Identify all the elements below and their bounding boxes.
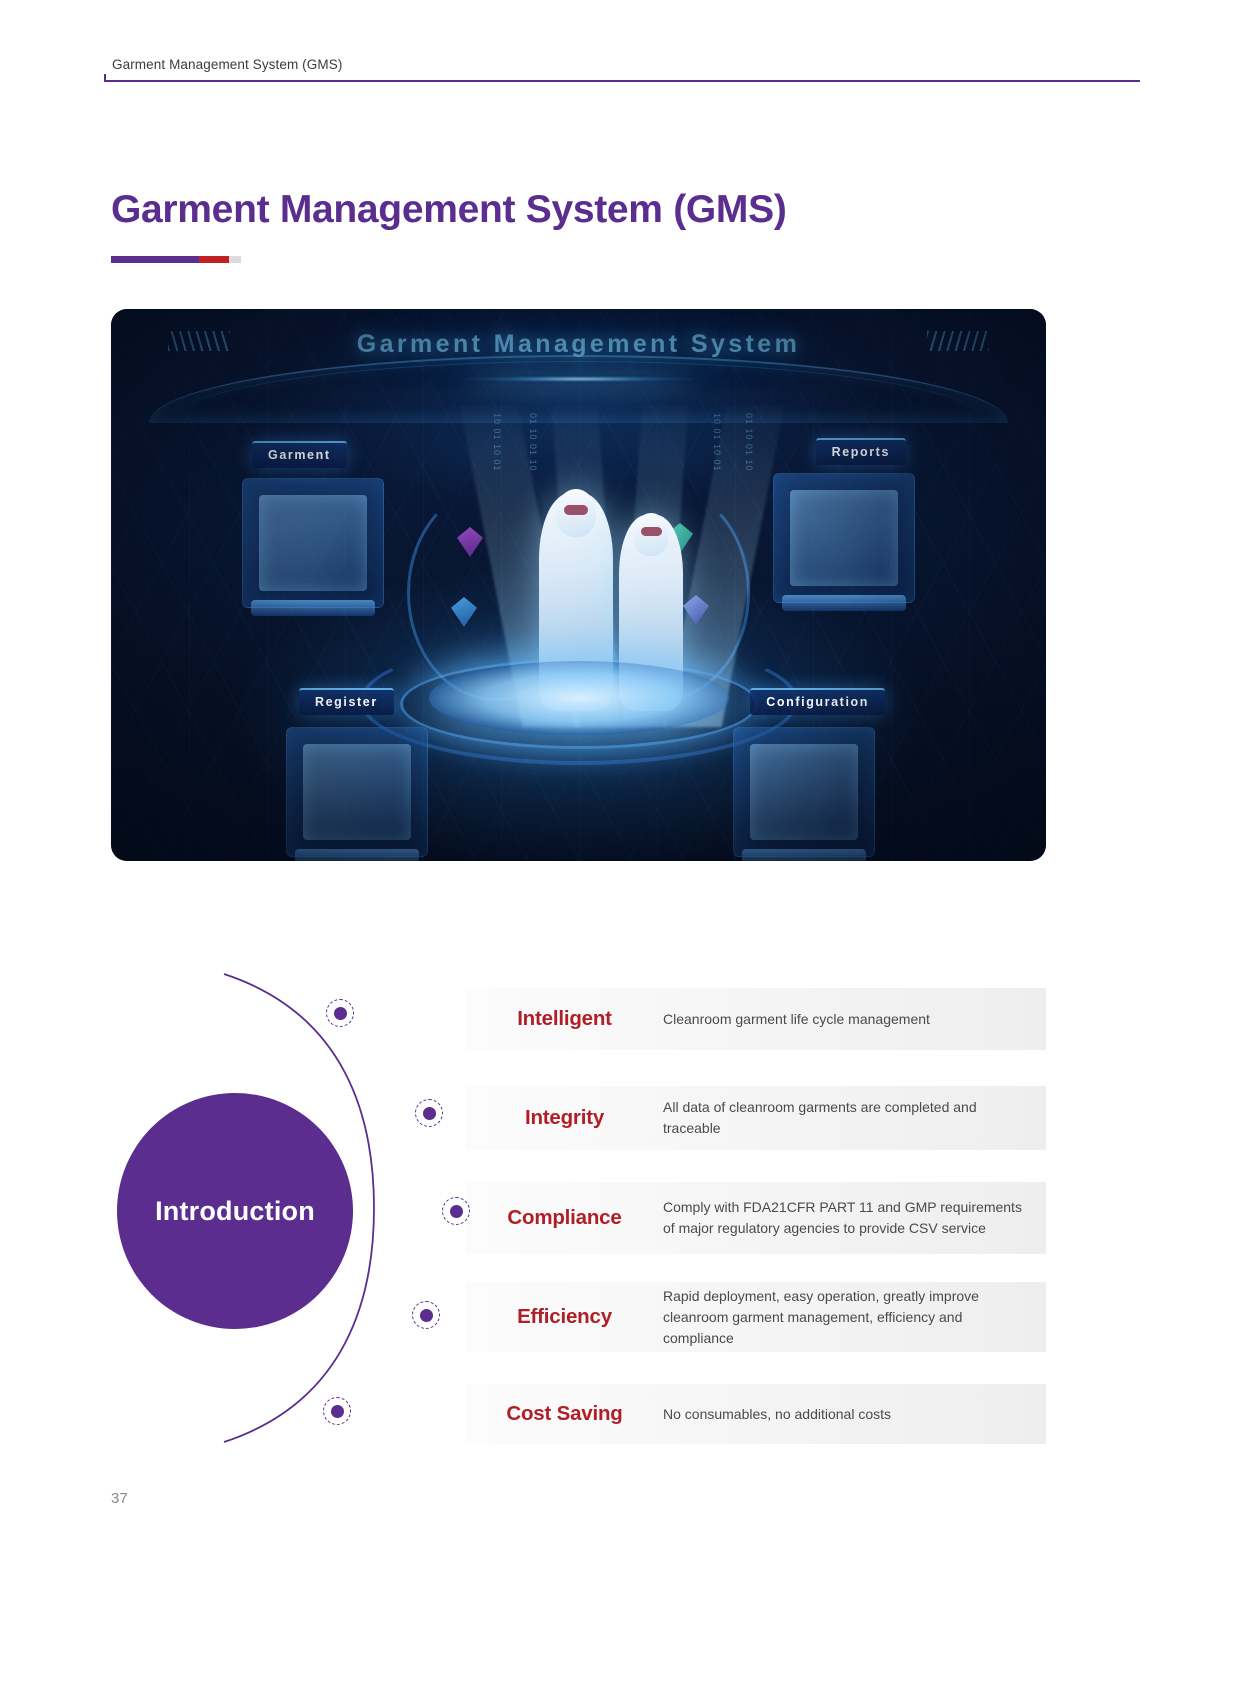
node-dot [450,1205,463,1218]
introduction-row-keyword: Efficiency [466,1305,663,1329]
introduction-row: IntelligentCleanroom garment life cycle … [466,988,1046,1050]
introduction-row: Cost SavingNo consumables, no additional… [466,1384,1046,1444]
introduction-row: EfficiencyRapid deployment, easy operati… [466,1282,1046,1352]
page-title: Garment Management System (GMS) [111,188,787,232]
introduction-row-keyword: Compliance [466,1206,663,1230]
introduction-row-keyword: Intelligent [466,1007,663,1031]
introduction-row: ComplianceComply with FDA21CFR PART 11 a… [466,1182,1046,1254]
title-accent-bar [111,256,241,263]
node-dot [331,1405,344,1418]
introduction-row-keyword: Integrity [466,1106,663,1130]
introduction-row-description: Comply with FDA21CFR PART 11 and GMP req… [663,1197,1046,1239]
header-rule [104,80,1140,82]
introduction-node-marker [413,1302,439,1328]
introduction-row-description: All data of cleanroom garments are compl… [663,1097,1046,1139]
accent-segment-purple [111,256,199,263]
introduction-row: IntegrityAll data of cleanroom garments … [466,1086,1046,1150]
introduction-row-description: Cleanroom garment life cycle management [663,1009,1046,1030]
page-number: 37 [111,1490,128,1507]
introduction-node-marker [416,1100,442,1126]
hero-vignette [111,309,1046,861]
introduction-node-marker [324,1398,350,1424]
running-header-title: Garment Management System (GMS) [112,57,342,72]
accent-segment-gray [229,256,241,263]
node-dot [423,1107,436,1120]
introduction-node-marker [443,1198,469,1224]
running-header: Garment Management System (GMS) [0,0,1240,80]
introduction-row-description: No consumables, no additional costs [663,1404,1046,1425]
node-dot [420,1309,433,1322]
accent-segment-red [199,256,229,263]
introduction-node-marker [327,1000,353,1026]
introduction-row-description: Rapid deployment, easy operation, greatl… [663,1286,1046,1349]
hero-illustration: Garment Management System 10 01 10 01 01… [111,309,1046,861]
introduction-row-keyword: Cost Saving [466,1402,663,1426]
node-dot [334,1007,347,1020]
